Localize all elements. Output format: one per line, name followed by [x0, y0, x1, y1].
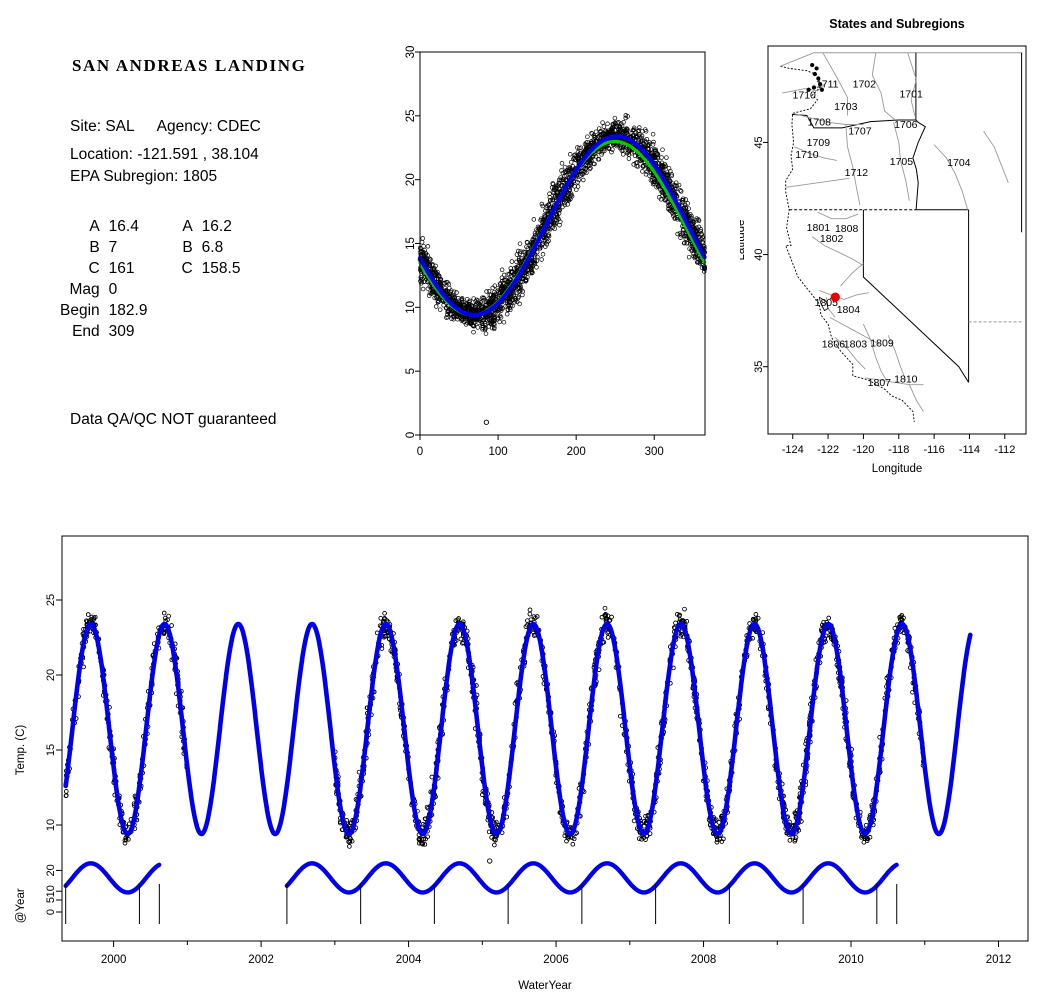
param-key: End [60, 321, 109, 342]
param-value: 182.9 [109, 300, 182, 321]
svg-text:-124: -124 [782, 444, 804, 456]
svg-text:15: 15 [405, 237, 417, 250]
map-subregion-label: 1809 [870, 338, 894, 350]
param-value: 158.5 [202, 258, 275, 279]
location-label: Location: -121.591 , 38.104 [70, 146, 259, 164]
map-subregion-label: 1707 [848, 126, 872, 138]
map-subregion-label: 1704 [947, 157, 971, 169]
svg-text:20: 20 [405, 173, 417, 186]
map-subregion-label: 1710 [793, 90, 817, 102]
map-subregion-label: 1804 [837, 304, 861, 316]
map-svg: States and Subregions1711171017021701170… [740, 14, 1038, 494]
param-key: C [60, 258, 109, 279]
svg-text:200: 200 [567, 446, 586, 458]
seasonal-scatter-chart: 0510152025300100200300 [390, 40, 720, 480]
map-subregion-label: 1711 [816, 78, 839, 90]
site-agency-line: Site: SALAgency: CDEC [70, 118, 261, 136]
svg-text:0: 0 [417, 446, 423, 458]
param-value: 16.2 [202, 216, 275, 237]
param-key: Begin [60, 300, 109, 321]
svg-text:25: 25 [405, 109, 417, 122]
svg-text:States and Subregions: States and Subregions [829, 17, 964, 31]
table-row: End 309 [60, 321, 274, 342]
map-subregion-label: 1807 [868, 377, 892, 389]
param-key: A [181, 216, 201, 237]
param-value: 16.4 [109, 216, 182, 237]
site-info-panel: SAN ANDREAS LANDING Site: SALAgency: CDE… [0, 0, 390, 500]
map-subregion-label: 1708 [808, 117, 832, 129]
svg-text:-116: -116 [924, 444, 945, 456]
timeseries-svg: 510152025Temp. (C)01020@Year200020022004… [0, 505, 1038, 1001]
svg-text:Latitude: Latitude [740, 220, 747, 261]
states-subregions-map: States and Subregions1711171017021701170… [740, 14, 1038, 494]
svg-text:-112: -112 [994, 444, 1015, 456]
param-value: 6.8 [202, 237, 275, 258]
map-subregion-label: 1703 [834, 101, 858, 113]
svg-text:-122: -122 [817, 444, 839, 456]
param-key: C [181, 258, 201, 279]
map-subregion-label: 1806 [822, 339, 846, 351]
svg-text:10: 10 [405, 301, 417, 314]
map-subregion-label: 1802 [820, 233, 844, 245]
seasonal-scatter-svg: 0510152025300100200300 [390, 40, 720, 480]
svg-text:0: 0 [405, 432, 417, 438]
param-key: A [60, 216, 109, 237]
fit-parameters-table: A 16.4 A 16.2 B 7 B 6.8 C 161 C 158.5 Ma… [60, 216, 274, 342]
site-marker-icon [831, 293, 840, 302]
table-row: C 161 C 158.5 [60, 258, 274, 279]
map-subregion-label: 1701 [899, 89, 923, 101]
site-code-label: Site: SAL [70, 118, 135, 135]
map-subregion-label: 1712 [845, 167, 869, 179]
param-value: 7 [109, 237, 182, 258]
agency-label: Agency: CDEC [157, 118, 261, 135]
param-value: 0 [109, 279, 182, 300]
table-row: Begin 182.9 [60, 300, 274, 321]
timeseries-chart: 510152025Temp. (C)01020@Year200020022004… [0, 505, 1038, 1001]
param-value: 161 [109, 258, 182, 279]
svg-text:30: 30 [405, 46, 417, 59]
svg-text:-120: -120 [852, 444, 874, 456]
svg-text:100: 100 [488, 446, 507, 458]
map-subregion-label: 1702 [853, 78, 877, 90]
map-subregion-label: 1801 [807, 222, 831, 234]
qaqc-warning: Data QA/QC NOT guaranteed [70, 411, 276, 429]
svg-text:-114: -114 [959, 444, 980, 456]
map-subregion-label: 1709 [807, 137, 831, 149]
map-subregion-label: 1705 [890, 156, 914, 168]
map-subregion-label: 1803 [844, 339, 868, 351]
table-row: B 7 B 6.8 [60, 237, 274, 258]
param-key: B [181, 237, 201, 258]
map-subregion-label: 1706 [894, 119, 918, 131]
epa-subregion-label: EPA Subregion: 1805 [70, 168, 217, 186]
table-row: Mag 0 [60, 279, 274, 300]
table-row: A 16.4 A 16.2 [60, 216, 274, 237]
param-value: 309 [109, 321, 182, 342]
param-key: B [60, 237, 109, 258]
map-subregion-label: 1810 [894, 373, 918, 385]
svg-text:Longitude: Longitude [872, 463, 923, 475]
svg-text:40: 40 [753, 248, 765, 260]
map-subregion-label: 1710 [795, 149, 819, 161]
svg-text:45: 45 [753, 136, 765, 148]
svg-text:5: 5 [405, 368, 417, 374]
svg-text:35: 35 [753, 361, 765, 373]
page-title: SAN ANDREAS LANDING [72, 56, 306, 76]
svg-text:300: 300 [645, 446, 664, 458]
svg-text:-118: -118 [888, 444, 909, 456]
param-key: Mag [60, 279, 109, 300]
